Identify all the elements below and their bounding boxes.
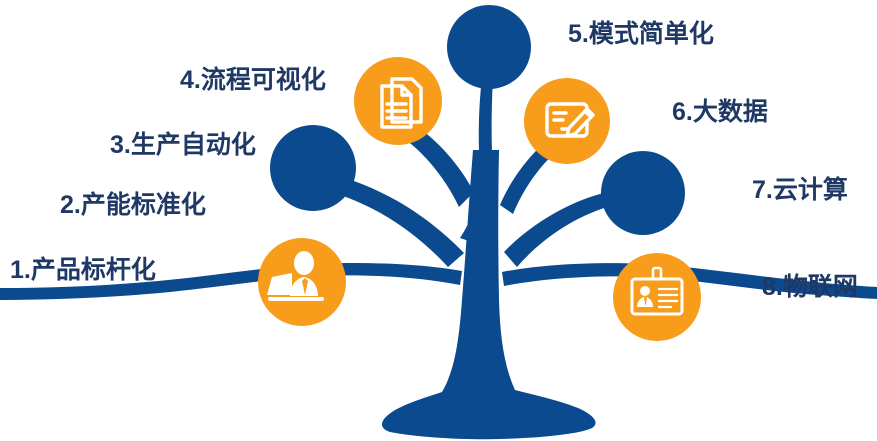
tree-diagram-canvas: 1.产品标杆化 2.产能标准化 3.生产自动化 4.流程可视化 5.模式简单化 … <box>0 0 877 441</box>
label-1-product-benchmarking[interactable]: 1.产品标杆化 <box>10 258 156 283</box>
node-blue-right[interactable] <box>601 151 685 235</box>
node-orange-id-badge[interactable] <box>613 253 701 341</box>
tree-trunk <box>382 150 596 439</box>
label-5-model-simplification[interactable]: 5.模式简单化 <box>568 22 714 47</box>
tree-graphic <box>0 0 877 441</box>
label-8-internet-of-things[interactable]: 8.物联网 <box>762 275 858 300</box>
node-blue-top[interactable] <box>447 5 531 89</box>
label-3-production-automation[interactable]: 3.生产自动化 <box>110 133 256 158</box>
label-4-process-visualization[interactable]: 4.流程可视化 <box>180 68 326 93</box>
label-6-big-data[interactable]: 6.大数据 <box>672 100 768 125</box>
node-orange-note-pen[interactable] <box>524 78 610 164</box>
label-7-cloud-computing[interactable]: 7.云计算 <box>752 178 848 203</box>
node-orange-person-laptop[interactable] <box>258 238 346 326</box>
node-orange-documents[interactable] <box>354 57 442 145</box>
node-blue-upper-left[interactable] <box>270 125 356 211</box>
label-2-capacity-standardization[interactable]: 2.产能标准化 <box>60 193 206 218</box>
